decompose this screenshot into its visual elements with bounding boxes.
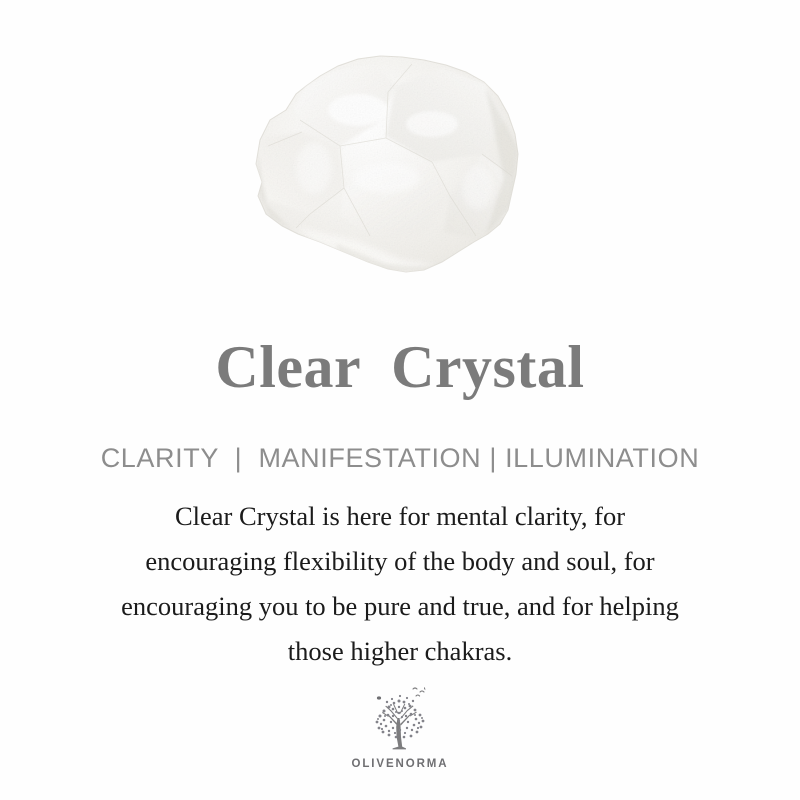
brand-name: OLIVENORMA xyxy=(352,758,449,770)
description-line: Clear Crystal is here for mental clarity… xyxy=(50,494,750,539)
clear-crystal-product-card: Clear Crystal CLARITY | MANIFESTATION | … xyxy=(0,0,800,800)
description-text: Clear Crystal is here for mental clarity… xyxy=(50,494,750,674)
clear-crystal-image xyxy=(236,28,528,294)
olive-tree-logo-icon xyxy=(358,682,442,756)
description-line: encouraging you to be pure and true, and… xyxy=(50,584,750,629)
product-image-stage xyxy=(0,0,800,310)
description-line: encouraging flexibility of the body and … xyxy=(50,539,750,584)
description-line: those higher chakras. xyxy=(50,629,750,674)
keyword-subtitle: CLARITY | MANIFESTATION | ILLUMINATION xyxy=(0,440,800,476)
page-title: Clear Crystal xyxy=(0,332,800,402)
brand-logo: OLIVENORMA xyxy=(0,682,800,770)
